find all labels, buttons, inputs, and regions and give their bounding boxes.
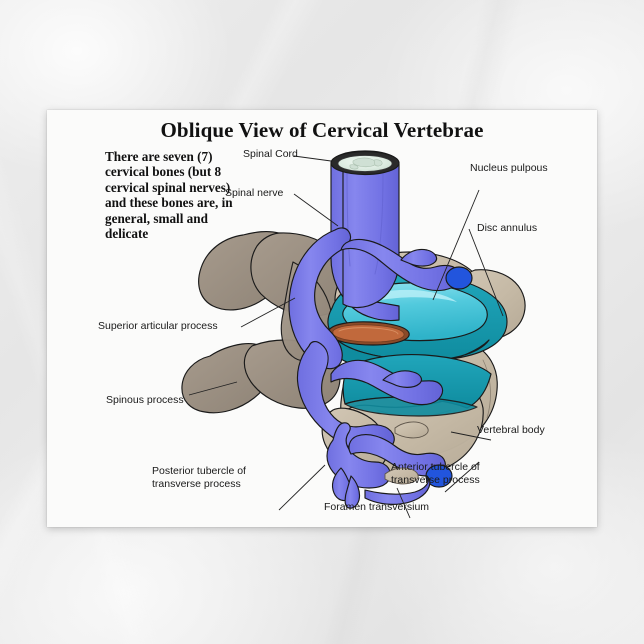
label-anterior-tubercle: Anterior tubercle of transverse process	[391, 461, 480, 486]
label-superior-articular-process: Superior articular process	[98, 320, 218, 333]
label-foramen-transversium: Foramen transversium	[324, 501, 429, 514]
postcard: Oblique View of Cervical Vertebrae There…	[47, 110, 597, 527]
label-posterior-tubercle: Posterior tubercle of transverse process	[152, 465, 246, 490]
label-spinal-cord: Spinal Cord	[243, 148, 298, 161]
label-nucleus-pulpous: Nucleus pulpous	[470, 162, 548, 175]
label-spinous-process: Spinous process	[106, 394, 184, 407]
label-disc-annulus: Disc annulus	[477, 222, 537, 235]
label-vertebral-body: Vertebral body	[477, 424, 545, 437]
label-spinal-nerve: Spinal nerve	[225, 187, 283, 200]
